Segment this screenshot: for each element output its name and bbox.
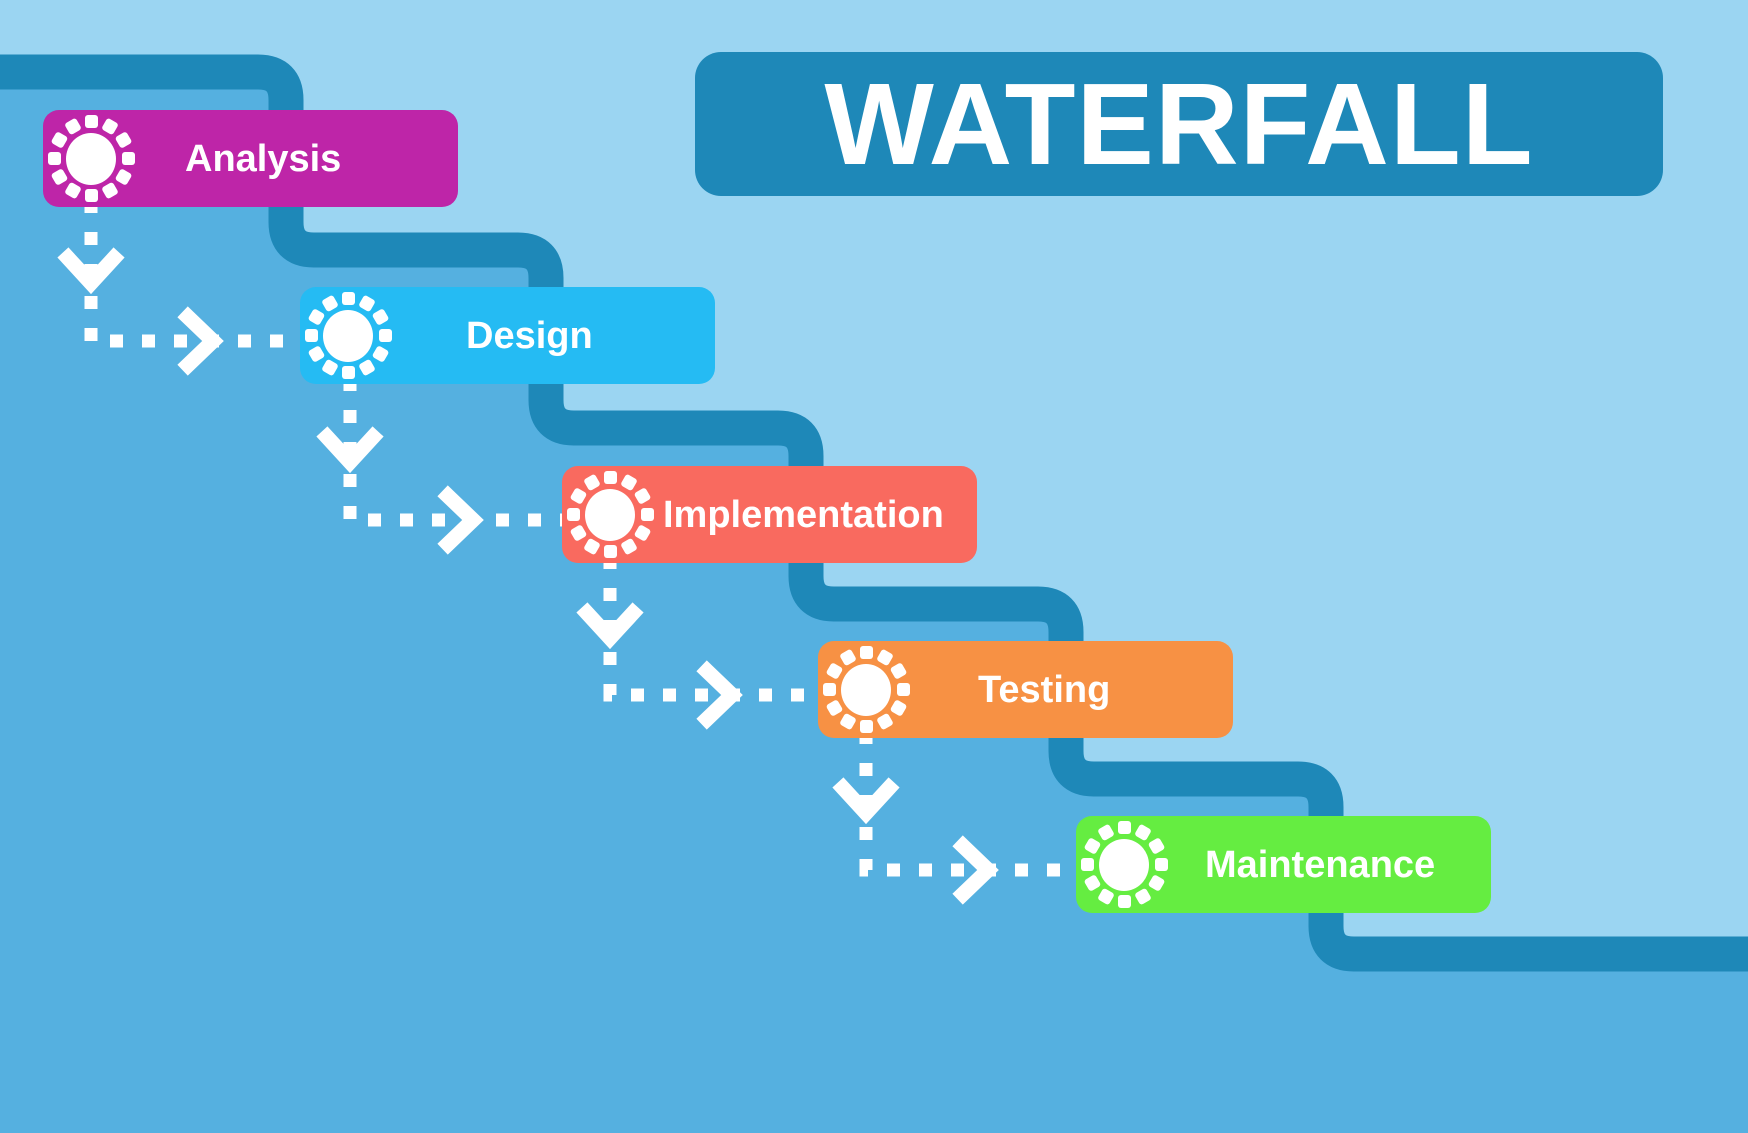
sunburst-core xyxy=(323,310,373,362)
sunburst-ray xyxy=(50,168,68,186)
sunburst-ray xyxy=(897,683,910,696)
sunburst-icon xyxy=(300,288,396,384)
sunburst-ray xyxy=(620,538,638,556)
sunburst-ray xyxy=(371,345,389,363)
sunburst-ray xyxy=(85,189,98,202)
sunburst-ray xyxy=(860,646,873,659)
sunburst-ray xyxy=(889,699,907,717)
sunburst-ray xyxy=(85,115,98,128)
sunburst-ray xyxy=(1097,824,1115,842)
sunburst-ray xyxy=(860,720,873,733)
sunburst-ray xyxy=(583,474,601,492)
sunburst-ray xyxy=(569,487,587,505)
sunburst-ray xyxy=(839,649,857,667)
sunburst-ray xyxy=(876,649,894,667)
sunburst-ray xyxy=(358,295,376,313)
sunburst-ray xyxy=(1083,874,1101,892)
waterfall-diagram: WATERFALL Analysis Design Implementation… xyxy=(0,0,1748,1133)
sunburst-ray xyxy=(122,152,135,165)
sunburst-ray xyxy=(101,118,119,136)
sunburst-icon xyxy=(43,111,139,207)
sunburst-ray xyxy=(1118,821,1131,834)
sunburst-ray xyxy=(876,713,894,731)
sunburst-ray xyxy=(379,329,392,342)
sunburst-ray xyxy=(569,524,587,542)
sunburst-ray xyxy=(48,152,61,165)
sunburst-ray xyxy=(64,118,82,136)
sunburst-ray xyxy=(321,295,339,313)
sunburst-ray xyxy=(114,168,132,186)
sunburst-ray xyxy=(604,471,617,484)
sunburst-ray xyxy=(342,366,355,379)
icon-layer xyxy=(0,0,1748,1133)
sunburst-ray xyxy=(1155,858,1168,871)
sunburst-icon xyxy=(1076,817,1172,913)
sunburst-ray xyxy=(371,308,389,326)
sunburst-icon xyxy=(818,642,914,738)
sunburst-core xyxy=(585,489,635,541)
sunburst-ray xyxy=(1081,858,1094,871)
sunburst-ray xyxy=(358,359,376,377)
sunburst-ray xyxy=(50,131,68,149)
sunburst-ray xyxy=(825,662,843,680)
sunburst-ray xyxy=(1083,837,1101,855)
sunburst-ray xyxy=(307,308,325,326)
sunburst-core xyxy=(66,133,116,185)
sunburst-ray xyxy=(101,182,119,200)
sunburst-ray xyxy=(604,545,617,558)
sunburst-ray xyxy=(823,683,836,696)
sunburst-ray xyxy=(1134,824,1152,842)
sunburst-ray xyxy=(1097,888,1115,906)
sunburst-ray xyxy=(839,713,857,731)
sunburst-ray xyxy=(114,131,132,149)
sunburst-ray xyxy=(633,487,651,505)
sunburst-core xyxy=(841,664,891,716)
sunburst-icon xyxy=(562,467,658,563)
sunburst-ray xyxy=(620,474,638,492)
sunburst-ray xyxy=(889,662,907,680)
sunburst-ray xyxy=(567,508,580,521)
sunburst-ray xyxy=(1118,895,1131,908)
sunburst-ray xyxy=(321,359,339,377)
sunburst-core xyxy=(1099,839,1149,891)
sunburst-ray xyxy=(1134,888,1152,906)
sunburst-ray xyxy=(305,329,318,342)
sunburst-ray xyxy=(1147,837,1165,855)
sunburst-ray xyxy=(307,345,325,363)
sunburst-ray xyxy=(1147,874,1165,892)
sunburst-ray xyxy=(342,292,355,305)
sunburst-ray xyxy=(641,508,654,521)
sunburst-ray xyxy=(583,538,601,556)
sunburst-ray xyxy=(825,699,843,717)
sunburst-ray xyxy=(64,182,82,200)
sunburst-ray xyxy=(633,524,651,542)
